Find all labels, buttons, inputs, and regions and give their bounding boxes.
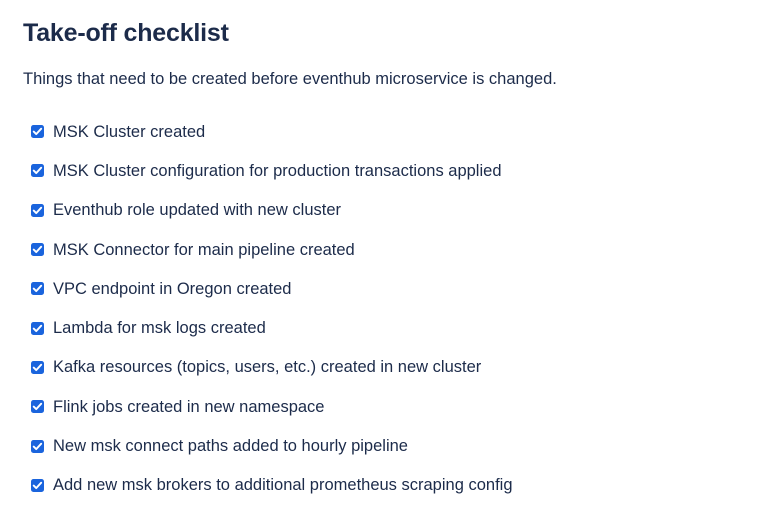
checklist-item-label: New msk connect paths added to hourly pi… bbox=[53, 435, 408, 457]
check-icon bbox=[32, 480, 43, 491]
checklist-item-label: MSK Cluster created bbox=[53, 121, 205, 143]
checklist-item-label: MSK Connector for main pipeline created bbox=[53, 239, 355, 261]
checklist-item[interactable]: Lambda for msk logs created bbox=[0, 308, 764, 347]
checklist-item-label: Eventhub role updated with new cluster bbox=[53, 199, 341, 221]
check-icon bbox=[32, 362, 43, 373]
checklist-item-label: Kafka resources (topics, users, etc.) cr… bbox=[53, 356, 481, 378]
check-icon bbox=[32, 401, 43, 412]
checklist-item[interactable]: New msk connect paths added to hourly pi… bbox=[0, 426, 764, 465]
checklist-item[interactable]: Flink jobs created in new namespace bbox=[0, 387, 764, 426]
checkbox-checked[interactable] bbox=[31, 440, 44, 453]
checkbox-checked[interactable] bbox=[31, 282, 44, 295]
checklist-item[interactable]: MSK Cluster configuration for production… bbox=[0, 151, 764, 190]
check-icon bbox=[32, 323, 43, 334]
checkbox-checked[interactable] bbox=[31, 204, 44, 217]
check-icon bbox=[32, 244, 43, 255]
checkbox-checked[interactable] bbox=[31, 400, 44, 413]
checkbox-checked[interactable] bbox=[31, 164, 44, 177]
check-icon bbox=[32, 205, 43, 216]
checklist-item[interactable]: Eventhub role updated with new cluster bbox=[0, 191, 764, 230]
checklist-item-label: Add new msk brokers to additional promet… bbox=[53, 474, 513, 496]
checklist-item-label: Flink jobs created in new namespace bbox=[53, 396, 324, 418]
check-icon bbox=[32, 441, 43, 452]
checklist-item[interactable]: VPC endpoint in Oregon created bbox=[0, 269, 764, 308]
checklist-item-label: VPC endpoint in Oregon created bbox=[53, 278, 292, 300]
checkbox-checked[interactable] bbox=[31, 322, 44, 335]
page-title: Take-off checklist bbox=[23, 17, 229, 49]
checkbox-checked[interactable] bbox=[31, 125, 44, 138]
checkbox-checked[interactable] bbox=[31, 361, 44, 374]
checklist-item[interactable]: Add new msk brokers to additional promet… bbox=[0, 466, 764, 505]
checklist-item-label: Lambda for msk logs created bbox=[53, 317, 266, 339]
checklist-item[interactable]: MSK Cluster created bbox=[0, 112, 764, 151]
page-subtitle: Things that need to be created before ev… bbox=[23, 68, 557, 90]
checklist-item[interactable]: Kafka resources (topics, users, etc.) cr… bbox=[0, 348, 764, 387]
checkbox-checked[interactable] bbox=[31, 479, 44, 492]
check-icon bbox=[32, 126, 43, 137]
check-icon bbox=[32, 283, 43, 294]
checklist-item-label: MSK Cluster configuration for production… bbox=[53, 160, 502, 182]
checkbox-checked[interactable] bbox=[31, 243, 44, 256]
checklist-item[interactable]: MSK Connector for main pipeline created bbox=[0, 230, 764, 269]
checklist: MSK Cluster createdMSK Cluster configura… bbox=[0, 112, 764, 505]
check-icon bbox=[32, 165, 43, 176]
checklist-page: Take-off checklist Things that need to b… bbox=[0, 0, 764, 521]
